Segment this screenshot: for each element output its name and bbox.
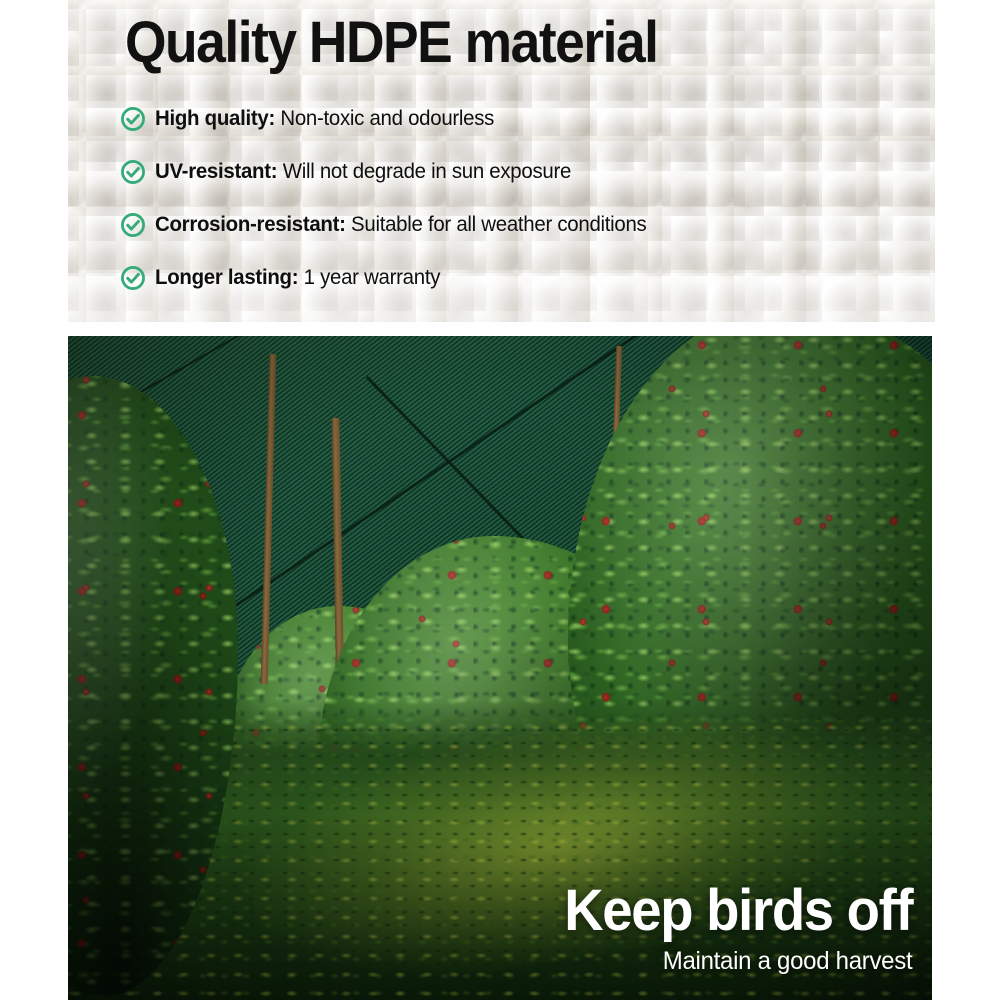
- check-circle-icon: [120, 106, 146, 132]
- feature-label: High quality:: [155, 106, 275, 130]
- feature-item-high-quality: High quality: Non-toxic and odourless: [120, 92, 920, 145]
- feature-value: Non-toxic and odourless: [280, 106, 494, 130]
- feature-value: Will not degrade in sun exposure: [283, 159, 571, 183]
- check-circle-icon: [120, 265, 146, 291]
- feature-text: Longer lasting: 1 year warranty: [155, 265, 440, 290]
- page-title: Quality HDPE material: [125, 14, 658, 72]
- feature-text: High quality: Non-toxic and odourless: [155, 106, 494, 131]
- check-circle-icon: [120, 159, 146, 185]
- photo-overlay-caption: Keep birds off Maintain a good harvest: [542, 882, 912, 974]
- feature-label: Longer lasting:: [155, 265, 298, 289]
- feature-label: Corrosion-resistant:: [155, 212, 346, 236]
- overlay-subtitle: Maintain a good harvest: [556, 949, 912, 974]
- product-marketing-page: Quality HDPE material High quality: Non-…: [0, 0, 1000, 1000]
- orchard-photo-panel: Keep birds off Maintain a good harvest: [68, 336, 932, 1000]
- feature-label: UV-resistant:: [155, 159, 277, 183]
- feature-list: High quality: Non-toxic and odourless UV…: [120, 92, 920, 304]
- overlay-title: Keep birds off: [564, 882, 912, 940]
- check-circle-icon: [120, 212, 146, 238]
- feature-text: UV-resistant: Will not degrade in sun ex…: [155, 159, 571, 184]
- feature-item-corrosion-resistant: Corrosion-resistant: Suitable for all we…: [120, 198, 920, 251]
- feature-text: Corrosion-resistant: Suitable for all we…: [155, 212, 646, 237]
- feature-value: 1 year warranty: [304, 265, 440, 289]
- feature-item-uv-resistant: UV-resistant: Will not degrade in sun ex…: [120, 145, 920, 198]
- feature-value: Suitable for all weather conditions: [351, 212, 646, 236]
- feature-item-longer-lasting: Longer lasting: 1 year warranty: [120, 251, 920, 304]
- hdpe-material-panel: Quality HDPE material High quality: Non-…: [68, 0, 935, 322]
